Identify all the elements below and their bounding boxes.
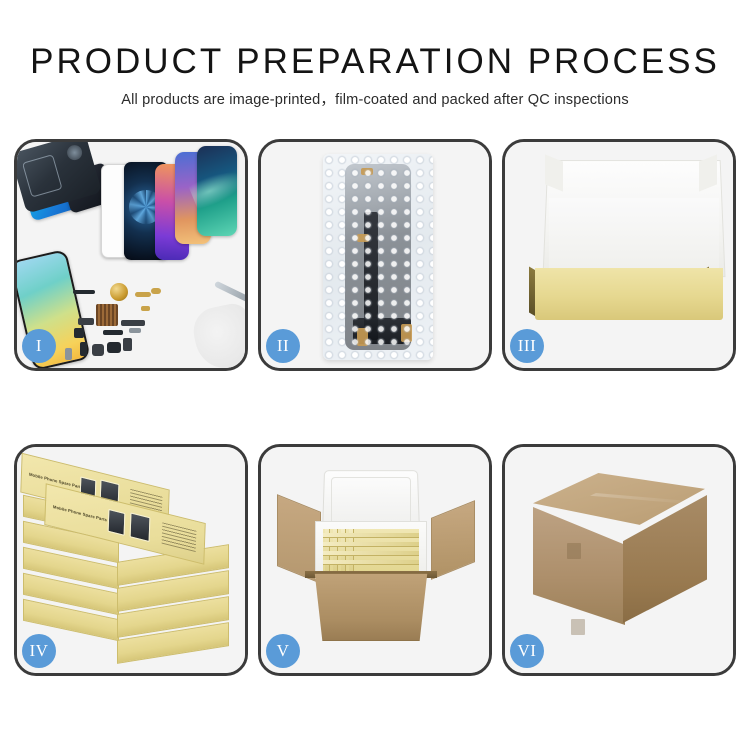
packed-retail-boxes-icon [323,529,419,571]
header: PRODUCT PREPARATION PROCESS All products… [0,0,750,109]
tape-icon [401,324,412,342]
part-icon [151,288,161,294]
retail-box-edge-icon [323,560,419,565]
step-panel-4[interactable]: Mobile Phone Spare Parts Mobile Phone Sp… [14,444,248,676]
part-icon [107,342,121,353]
step-badge: IV [22,634,56,668]
retail-box-edge-icon [323,533,419,538]
step-badge: III [510,329,544,363]
page-title: PRODUCT PREPARATION PROCESS [0,42,750,82]
step-panel-6[interactable]: VI [502,444,736,676]
tape-icon [361,168,373,175]
part-icon [103,330,123,335]
carton-right-flap-icon [431,500,475,580]
carton-front-face-icon [533,507,625,625]
part-icon [135,292,151,297]
step-panel-5[interactable]: V [258,444,492,676]
hand-icon [189,301,245,368]
carton-handle-tab-icon [571,619,585,635]
tweezers-icon [214,281,245,306]
part-icon [80,342,87,356]
carton-handle-tab-icon [567,543,581,559]
retail-box-edge-icon [323,551,419,556]
step-panel-1[interactable]: I [14,139,248,371]
part-icon [74,328,84,338]
part-icon [73,290,95,294]
styrofoam-lid-inset-icon [331,477,411,527]
box-window-icon [108,509,126,536]
white-foam-lining-icon [549,198,719,276]
part-icon [78,318,94,325]
logic-board-icon [96,304,118,326]
part-icon [121,320,145,326]
step-panel-2[interactable]: II [258,139,492,371]
yellow-box-front-icon [535,268,723,320]
part-icon [123,338,132,351]
page-subtitle: All products are image-printed，film-coat… [0,91,750,109]
box-brand-label: Mobile Phone Spare Parts [53,504,107,522]
part-icon [129,328,141,333]
tape-icon [357,234,369,242]
step-panel-3[interactable]: III [502,139,736,371]
carton-body-icon [307,573,435,641]
box-window-icon [130,512,151,542]
part-icon [92,344,104,356]
step-badge: II [266,329,300,363]
step-badge: I [22,329,56,363]
tape-icon [357,328,368,346]
step-badge: V [266,634,300,668]
teal-gradient-phone-icon [197,146,237,236]
process-step-grid: I II [14,139,736,676]
part-icon [141,306,150,311]
part-icon [65,348,72,360]
step-badge: VI [510,634,544,668]
retail-box-edge-icon [323,542,419,547]
speaker-module-icon [110,283,128,301]
product-preparation-infographic: PRODUCT PREPARATION PROCESS All products… [0,0,750,750]
box-spec-lines-icon [162,522,197,553]
